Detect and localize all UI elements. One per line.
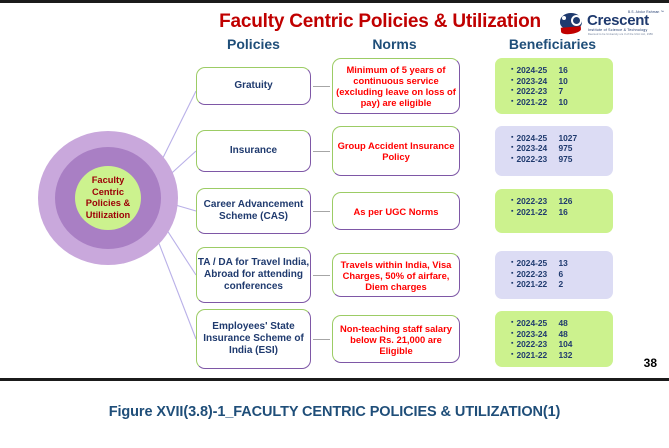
policy-box[interactable]: Career Advancement Scheme (CAS) xyxy=(196,188,311,234)
beneficiaries-row: 2022-237 xyxy=(495,86,613,97)
beneficiaries-row: 2022-23104 xyxy=(495,339,613,350)
diagram-row: Employees' State Insurance Scheme of Ind… xyxy=(0,309,669,369)
beneficiaries-row: 2024-2548 xyxy=(495,318,613,329)
column-header-norms: Norms xyxy=(327,36,462,52)
beneficiary-count: 2 xyxy=(558,279,592,290)
beneficiary-year: 2021-22 xyxy=(516,350,558,361)
beneficiaries-row: 2023-2448 xyxy=(495,329,613,340)
beneficiary-count: 7 xyxy=(558,86,592,97)
policy-box[interactable]: Gratuity xyxy=(196,67,311,105)
policy-box[interactable]: Insurance xyxy=(196,130,311,172)
beneficiaries-list: 2024-25132022-2362021-222 xyxy=(495,258,613,290)
beneficiaries-list: 2024-25482023-24482022-231042021-22132 xyxy=(495,318,613,360)
beneficiaries-box: 2024-25482023-24482022-231042021-22132 xyxy=(495,311,613,367)
beneficiaries-row: 2024-2513 xyxy=(495,258,613,269)
beneficiary-year: 2022-23 xyxy=(516,86,558,97)
diagram-row: GratuityMinimum of 5 years of continuous… xyxy=(0,58,669,114)
diagram-row: InsuranceGroup Accident Insurance Policy… xyxy=(0,123,669,178)
beneficiaries-row: 2021-22132 xyxy=(495,350,613,361)
beneficiaries-row: 2023-2410 xyxy=(495,76,613,87)
beneficiary-count: 975 xyxy=(558,143,592,154)
connector-dash xyxy=(313,211,330,212)
diagram-row: Career Advancement Scheme (CAS)As per UG… xyxy=(0,185,669,237)
norm-box[interactable]: As per UGC Norms xyxy=(332,192,460,230)
beneficiary-count: 126 xyxy=(558,196,592,207)
beneficiary-year: 2022-23 xyxy=(516,269,558,280)
beneficiaries-list: 2024-2510272023-249752022-23975 xyxy=(495,133,613,165)
beneficiary-year: 2023-24 xyxy=(516,143,558,154)
connector-dash xyxy=(313,86,330,87)
page-number: 38 xyxy=(644,356,657,370)
beneficiary-count: 6 xyxy=(558,269,592,280)
norm-box[interactable]: Travels within India, Visa Charges, 50% … xyxy=(332,253,460,297)
beneficiary-count: 48 xyxy=(558,329,592,340)
beneficiaries-row: 2023-24975 xyxy=(495,143,613,154)
column-header-policies: Policies xyxy=(196,36,311,52)
connector-dash xyxy=(313,339,330,340)
beneficiaries-row: 2021-2216 xyxy=(495,207,613,218)
beneficiaries-row: 2022-236 xyxy=(495,269,613,280)
beneficiary-year: 2021-22 xyxy=(516,279,558,290)
beneficiaries-box: 2024-25162023-24102022-2372021-2210 xyxy=(495,58,613,114)
beneficiary-count: 132 xyxy=(558,350,592,361)
beneficiary-count: 16 xyxy=(558,65,592,76)
crescent-logo: B.S. Abdur Rahman ™ Crescent Institute o… xyxy=(560,10,664,37)
beneficiary-year: 2021-22 xyxy=(516,97,558,108)
slide-canvas: Faculty Centric Policies & Utilization B… xyxy=(0,0,669,381)
beneficiary-count: 975 xyxy=(558,154,592,165)
beneficiaries-row: 2024-2516 xyxy=(495,65,613,76)
beneficiary-count: 13 xyxy=(558,258,592,269)
beneficiary-year: 2024-25 xyxy=(516,133,558,144)
beneficiaries-row: 2022-23975 xyxy=(495,154,613,165)
policy-box[interactable]: Employees' State Insurance Scheme of Ind… xyxy=(196,309,311,369)
beneficiaries-row: 2021-2210 xyxy=(495,97,613,108)
connector-dash xyxy=(313,151,330,152)
beneficiary-year: 2022-23 xyxy=(516,154,558,165)
connector-dash xyxy=(313,275,330,276)
beneficiary-count: 48 xyxy=(558,318,592,329)
beneficiaries-box: 2024-25132022-2362021-222 xyxy=(495,251,613,299)
diagram-row: TA / DA for Travel India, Abroad for att… xyxy=(0,246,669,304)
norm-box[interactable]: Non-teaching staff salary below Rs. 21,0… xyxy=(332,315,460,363)
beneficiary-count: 1027 xyxy=(558,133,592,144)
page-title: Faculty Centric Policies & Utilization xyxy=(190,11,570,33)
crescent-logo-icon xyxy=(560,13,584,34)
beneficiaries-row: 2024-251027 xyxy=(495,133,613,144)
beneficiary-year: 2022-23 xyxy=(516,196,558,207)
beneficiaries-row: 2021-222 xyxy=(495,279,613,290)
beneficiary-year: 2023-24 xyxy=(516,329,558,340)
beneficiary-year: 2023-24 xyxy=(516,76,558,87)
logo-name: Crescent xyxy=(587,13,649,28)
beneficiary-count: 10 xyxy=(558,76,592,87)
beneficiary-year: 2024-25 xyxy=(516,318,558,329)
beneficiaries-list: 2022-231262021-2216 xyxy=(495,196,613,217)
policy-box[interactable]: TA / DA for Travel India, Abroad for att… xyxy=(196,247,311,303)
column-header-beneficiaries: Beneficiaries xyxy=(480,36,625,52)
beneficiary-year: 2021-22 xyxy=(516,207,558,218)
beneficiary-count: 10 xyxy=(558,97,592,108)
figure-caption: Figure XVII(3.8)-1_FACULTY CENTRIC POLIC… xyxy=(0,404,669,420)
beneficiaries-box: 2024-2510272023-249752022-23975 xyxy=(495,126,613,176)
beneficiary-year: 2024-25 xyxy=(516,65,558,76)
beneficiary-count: 16 xyxy=(558,207,592,218)
norm-box[interactable]: Minimum of 5 years of continuous service… xyxy=(332,58,460,114)
beneficiaries-row: 2022-23126 xyxy=(495,196,613,207)
beneficiaries-list: 2024-25162023-24102022-2372021-2210 xyxy=(495,65,613,107)
beneficiary-count: 104 xyxy=(558,339,592,350)
norm-box[interactable]: Group Accident Insurance Policy xyxy=(332,126,460,176)
beneficiary-year: 2024-25 xyxy=(516,258,558,269)
beneficiary-year: 2022-23 xyxy=(516,339,558,350)
beneficiaries-box: 2022-231262021-2216 xyxy=(495,189,613,233)
